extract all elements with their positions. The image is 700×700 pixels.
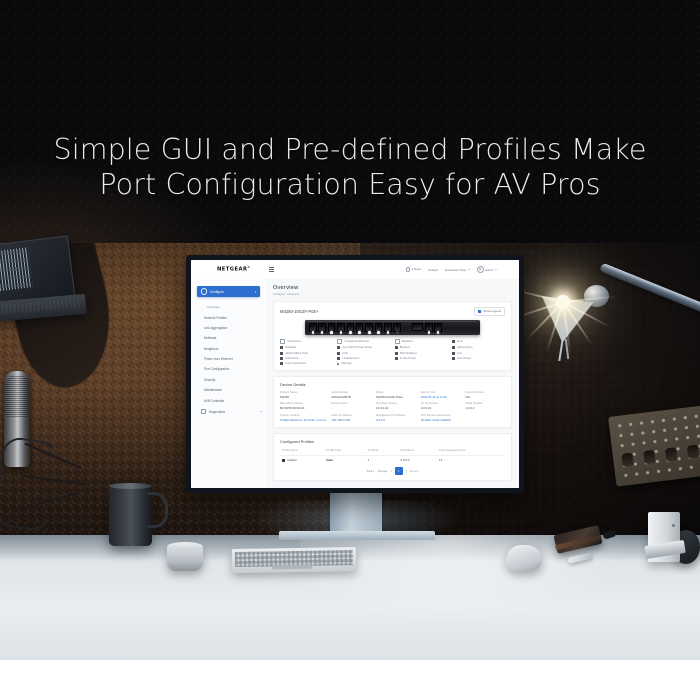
- port-led: [321, 331, 324, 334]
- keyboard-spacebar: [272, 565, 312, 569]
- port-led: [396, 331, 399, 334]
- sidebar-item-label: Diagnostics: [209, 410, 225, 414]
- pagination-page-1[interactable]: 1: [395, 467, 403, 475]
- legend-item: PoE Disabled: [395, 352, 448, 355]
- port-7[interactable]: [365, 323, 373, 332]
- legend-item: PoE: [337, 352, 390, 355]
- table-header-row: Profile Name Profile Type VLAN ID IP Add…: [280, 447, 505, 455]
- pagination-prev-icon[interactable]: [391, 470, 392, 472]
- table-row[interactable]: Default Data 1 0.0.0.0 12: [280, 455, 505, 465]
- topnav-item-default[interactable]: Default: [428, 268, 438, 272]
- device-model-label: M4250-10G2F-PoE+: [280, 309, 319, 314]
- legend-item: Force Authorized: [280, 362, 333, 365]
- port-group-3: [347, 323, 364, 332]
- detail-serial-number: Serial Number6KM1234567B: [331, 391, 371, 399]
- monitor-screen: NETGEAR® 3 Days Default Quickstart Help …: [191, 260, 519, 488]
- show-legend-label: Show Legend: [483, 309, 501, 313]
- legend-swatch-icon: [452, 346, 455, 349]
- detail-device-name[interactable]: Device Name-: [331, 402, 371, 410]
- sidebar-item-multicast[interactable]: Multicast: [191, 333, 266, 343]
- port-9[interactable]: [384, 323, 392, 332]
- port-led: [349, 331, 352, 334]
- port-group-1: [309, 323, 326, 332]
- device-details-grid: Product NameM4250 Serial Number6KM123456…: [280, 391, 505, 422]
- netgear-logo: NETGEAR®: [217, 266, 250, 273]
- legend-item: Admin Down: [452, 346, 505, 349]
- device-details-card: Device Details Product NameM4250 Serial …: [273, 376, 512, 427]
- legend-item: Any 100 M Power Mode: [337, 346, 390, 349]
- sidebar-item-neighbors[interactable]: Neighbors: [191, 344, 266, 354]
- monitor-stand-foot: [279, 531, 435, 540]
- coffee-mug: [109, 484, 152, 546]
- device-card-header: M4250-10G2F-PoE+ Show Legend: [280, 307, 505, 316]
- port-led: [437, 331, 440, 334]
- legend-item: Disabled: [280, 346, 333, 349]
- detail-empty: [465, 414, 505, 422]
- device-diagram-wrap: [280, 320, 505, 335]
- pagination-next-icon[interactable]: [406, 470, 407, 472]
- legend-item: Configured Ethernet: [337, 339, 390, 344]
- switch-front-panel[interactable]: [305, 320, 480, 335]
- topnav: 3 Days Default Quickstart Help admin: [406, 266, 497, 273]
- clock-icon: [406, 267, 410, 271]
- bottom-whitespace: [0, 660, 700, 700]
- warning-icon: [337, 362, 339, 365]
- app-topbar: NETGEAR® 3 Days Default Quickstart Help …: [191, 260, 519, 280]
- detail-date-time[interactable]: Date & Time2022-01-11 at 17:26: [421, 391, 461, 399]
- legend-swatch-icon: [452, 357, 455, 360]
- legend-swatch-icon: [395, 357, 398, 360]
- legend-item: Unauthorized: [337, 357, 390, 360]
- mixer-knob: [621, 453, 634, 467]
- legend-item: Disabled: [395, 339, 448, 344]
- sfp-port-12[interactable]: [425, 323, 433, 332]
- configured-profiles-card: Configured Profiles Profile Name Profile…: [273, 433, 512, 481]
- legend-swatch-icon: [280, 357, 283, 360]
- topnav-item-account[interactable]: admin: [477, 266, 497, 273]
- port-3[interactable]: [328, 323, 336, 332]
- port-4[interactable]: [337, 323, 345, 332]
- detail-current-uptime: Current UptimeN/A: [465, 391, 505, 399]
- mixer-knob: [687, 445, 700, 459]
- detail-management-ip-address[interactable]: Management IP Address0.0.0.0: [376, 414, 416, 422]
- mug-handle: [147, 492, 168, 528]
- port-5[interactable]: [347, 323, 355, 332]
- sidebar-item-avb-controller[interactable]: AVB Controller: [191, 395, 266, 405]
- promo-graphic: Simple GUI and Pre-defined Profiles Make…: [0, 0, 700, 700]
- port-led: [340, 331, 343, 334]
- mic-grille: [5, 375, 29, 417]
- pagination-goto[interactable]: Go to 1: [410, 469, 419, 473]
- port-6[interactable]: [356, 323, 364, 332]
- cell-profile-type: Data: [324, 455, 365, 465]
- sidebar-item-maintenance[interactable]: Maintenance: [191, 385, 266, 395]
- legend-icon: [478, 310, 481, 313]
- port-10[interactable]: [393, 323, 401, 332]
- cell-ip-address: 0.0.0.0: [398, 455, 437, 465]
- sidebar-item-link-aggregation[interactable]: Link Aggregation: [191, 323, 266, 333]
- legend-swatch-icon: [337, 339, 342, 344]
- mug-rim: [109, 483, 152, 489]
- detail-base-mac-address: Base MAC AddressB0:39:56:50:04:3A: [280, 402, 326, 410]
- table-pagination: Total 1 10/page 1 Go to 1: [280, 467, 505, 475]
- audio-waveform: [0, 247, 33, 291]
- show-legend-button[interactable]: Show Legend: [474, 307, 505, 316]
- col-vlan-id[interactable]: VLAN ID: [366, 447, 399, 455]
- legend-swatch-icon: [280, 339, 285, 344]
- topnav-item-quickstart-help[interactable]: Quickstart Help: [445, 268, 470, 272]
- keyboard: [232, 547, 356, 573]
- legend-swatch-icon: [280, 346, 283, 349]
- detail-firmware-version: Firmware Version13.0.2.22: [376, 402, 416, 410]
- legend-item: Authorized: [280, 357, 333, 360]
- detail-av-up-number: AV Up Number1.0.0.31: [421, 402, 461, 410]
- port-led: [387, 331, 390, 334]
- diagnostics-icon: [201, 409, 206, 414]
- port-led: [330, 331, 333, 334]
- headline-line-1: Simple GUI and Pre-defined Profiles Make: [0, 132, 700, 167]
- row-checkbox[interactable]: [282, 459, 285, 462]
- chevron-down-icon: [260, 411, 262, 412]
- monitor: NETGEAR® 3 Days Default Quickstart Help …: [186, 255, 524, 493]
- port-group-2: [328, 323, 345, 332]
- user-avatar-icon: [477, 266, 484, 273]
- pagination-page-size[interactable]: 10/page: [378, 469, 388, 473]
- sidebar-item-security[interactable]: Security: [191, 375, 266, 385]
- port-led: [368, 331, 371, 334]
- page-title: Overview: [273, 285, 512, 291]
- mixer-knob: [643, 450, 656, 464]
- sidebar-item-power-over-ethernet[interactable]: Power over Ethernet: [191, 354, 266, 364]
- sfp-port-13[interactable]: [434, 323, 442, 332]
- detail-serial-number-2: Serial Number1.0.0.3: [465, 402, 505, 410]
- monitor-stand-neck: [330, 493, 382, 533]
- legend-swatch-icon: [337, 357, 340, 360]
- legend-item: In Use Power: [395, 357, 448, 360]
- col-profile-type[interactable]: Profile Type: [324, 447, 365, 455]
- profiles-table: Profile Name Profile Type VLAN ID IP Add…: [280, 447, 505, 465]
- hamburger-icon[interactable]: [269, 267, 274, 272]
- dock-indicator: [672, 524, 675, 527]
- cell-profile-name[interactable]: Default: [280, 456, 324, 465]
- port-group-5: [384, 323, 401, 332]
- port-led: [428, 331, 431, 334]
- detail-product-name: Product NameM4250: [280, 391, 326, 399]
- mouse: [506, 545, 542, 571]
- legend-swatch-icon: [280, 352, 283, 355]
- legend-item: Auto Power: [452, 357, 505, 360]
- port-led: [312, 331, 315, 334]
- chevron-down-icon: [495, 269, 497, 270]
- page-headline: Simple GUI and Pre-defined Profiles Make…: [0, 132, 700, 202]
- trademark-mark: ®: [247, 266, 250, 269]
- legend-item: Error: [452, 339, 505, 344]
- sfp-port-11[interactable]: [412, 323, 423, 331]
- legend-swatch-icon: [395, 352, 398, 355]
- cell-ports-assigned: 12: [437, 455, 505, 465]
- port-led: [358, 331, 361, 334]
- legend-item: 10/100 Mbps Total: [280, 352, 333, 355]
- breadcrumb: Configure / Overview: [273, 292, 512, 296]
- sidebar-item-diagnostics[interactable]: Diagnostics: [191, 406, 266, 418]
- detail-system-location[interactable]: System Location5 Mbps Ethernet / 10 Unit…: [280, 414, 326, 422]
- speaker-top: [167, 542, 203, 551]
- main-content: Overview Configure / Overview M4250-10G2…: [266, 279, 519, 488]
- col-profile-name[interactable]: Profile Name: [280, 447, 324, 455]
- headline-band: [0, 0, 700, 243]
- legend-swatch-icon: [395, 346, 398, 349]
- port-led: [377, 331, 380, 334]
- sidebar-active-label: Configure: [210, 290, 224, 294]
- legend-swatch-icon: [280, 362, 283, 365]
- chevron-down-icon: [468, 269, 470, 270]
- port-1[interactable]: [309, 323, 317, 332]
- port-status-legend: Connected Configured Ethernet Disabled E…: [280, 339, 505, 366]
- laptop-keyboard: [0, 298, 80, 314]
- chevron-right-icon: [255, 291, 256, 293]
- sidebar-item-configure[interactable]: Configure: [197, 286, 260, 297]
- configured-profiles-title: Configured Profiles: [280, 439, 505, 444]
- sidebar-item-port-configuration[interactable]: Port Configuration: [191, 364, 266, 374]
- netgear-switch-ui: NETGEAR® 3 Days Default Quickstart Help …: [191, 260, 519, 488]
- sidebar-item-network-profiles[interactable]: Network Profiles: [191, 312, 266, 322]
- col-ip-address[interactable]: IP Address: [398, 447, 437, 455]
- detail-static-ip-address[interactable]: Static IP Address192.168.0.239: [331, 414, 371, 422]
- sidebar-item-overview[interactable]: Overview: [191, 302, 266, 312]
- sfp-group: [425, 323, 442, 332]
- legend-item: Link: [452, 352, 505, 355]
- sidebar: Configure Overview Network Profiles Link…: [191, 279, 267, 488]
- cell-vlan-id: 1: [366, 455, 399, 465]
- port-group-4: [365, 323, 382, 332]
- port-2[interactable]: [318, 323, 326, 332]
- detail-model: ModelM4250-10G2F-PoE+: [376, 391, 416, 399]
- legend-item: Connected: [280, 339, 333, 344]
- legend-swatch-icon: [452, 340, 455, 343]
- gear-icon: [201, 288, 207, 294]
- legend-item: Blocked: [395, 346, 448, 349]
- pagination-total: Total 1: [366, 469, 374, 473]
- legend-swatch-icon: [395, 339, 400, 344]
- legend-swatch-icon: [337, 352, 340, 355]
- legend-swatch-icon: [337, 346, 340, 349]
- headline-line-2: Port Configuration Easy for AV Pros: [0, 167, 700, 202]
- device-details-title: Device Details: [280, 382, 505, 387]
- mixer-knob: [665, 447, 678, 461]
- legend-swatch-icon: [452, 352, 455, 355]
- detail-ntp-remote-parameters[interactable]: NTP Remote ParametersNextline mode callb…: [421, 414, 461, 422]
- device-card: M4250-10G2F-PoE+ Show Legend: [273, 301, 512, 371]
- legend-item: Warning: [337, 362, 390, 365]
- col-ports-assigned-count[interactable]: Ports Assigned Count: [437, 447, 505, 455]
- port-8[interactable]: [375, 323, 383, 332]
- topnav-item-days[interactable]: 3 Days: [406, 267, 422, 271]
